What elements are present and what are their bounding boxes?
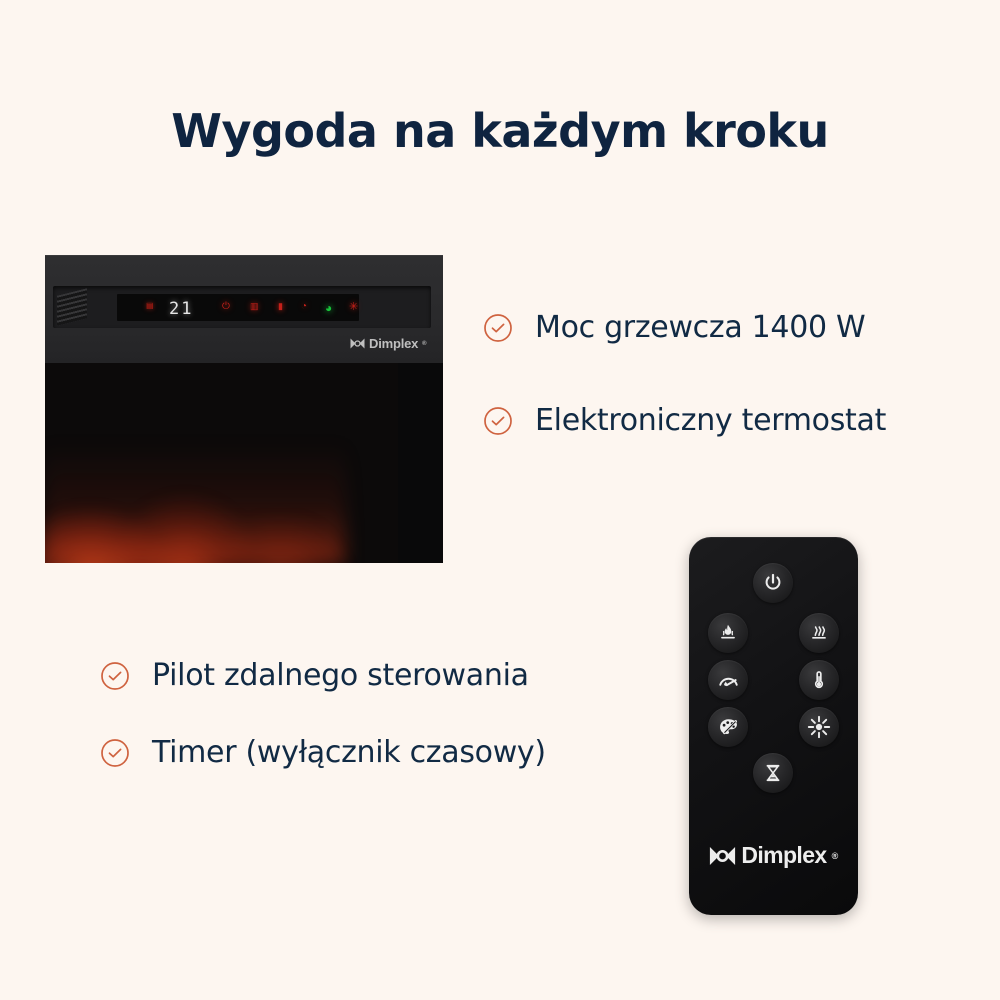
remote-control-image: Dimplex ® — [689, 537, 858, 915]
heater-bars-icon: ▤ — [146, 302, 154, 310]
feature-item: Elektroniczny termostat — [483, 403, 983, 438]
feature-item: Timer (wyłącznik czasowy) — [100, 735, 660, 770]
fireplace-display-panel[interactable]: ▤ 21 ⏻ ▥ ▮ ◔ ◕ ✳ — [117, 294, 359, 321]
power-icon — [762, 572, 784, 594]
sun-icon — [807, 715, 831, 739]
check-circle-icon — [100, 661, 130, 691]
feature-label: Pilot zdalnego sterowania — [152, 658, 529, 693]
color-button[interactable] — [708, 707, 748, 747]
flame-button[interactable] — [708, 613, 748, 653]
power-icon[interactable]: ⏻ — [222, 302, 230, 312]
flame-speed-button[interactable] — [708, 660, 748, 700]
remote-brand-logo: Dimplex ® — [689, 842, 858, 869]
heat-waves-icon — [808, 622, 830, 644]
fireplace-brand-logo: Dimplex ® — [350, 336, 426, 351]
thermometer-icon[interactable]: ▮ — [278, 302, 283, 311]
fireplace-hood: ▤ 21 ⏻ ▥ ▮ ◔ ◕ ✳ Dimplex — [45, 255, 443, 363]
feature-label: Moc grzewcza 1400 W — [535, 310, 865, 345]
vent-grille-icon — [57, 288, 87, 325]
display-temperature: 21 — [169, 299, 193, 319]
brightness-button[interactable] — [799, 707, 839, 747]
palette-icon — [717, 716, 740, 739]
feature-list-left: Pilot zdalnego sterowania Timer (wyłączn… — [100, 658, 660, 770]
timer-button[interactable] — [753, 753, 793, 793]
flame-speed-icon[interactable]: ◔ — [301, 302, 307, 312]
dimplex-bowtie-icon — [350, 338, 365, 349]
fireplace-firebox — [45, 360, 443, 563]
registered-mark: ® — [832, 851, 838, 861]
remote-brand-name: Dimplex — [741, 842, 826, 869]
check-circle-icon — [483, 406, 513, 436]
fireplace-brand-name: Dimplex — [369, 336, 418, 351]
heat-button[interactable] — [799, 613, 839, 653]
fireplace-product-image: ▤ 21 ⏻ ▥ ▮ ◔ ◕ ✳ Dimplex — [45, 255, 448, 565]
fireplace-side-panel — [398, 360, 443, 563]
check-circle-icon — [483, 313, 513, 343]
power-button[interactable] — [753, 563, 793, 603]
feature-item: Moc grzewcza 1400 W — [483, 310, 983, 345]
thermostat-button[interactable] — [799, 660, 839, 700]
dimplex-bowtie-icon — [709, 846, 736, 866]
fireplace-body: ▤ 21 ⏻ ▥ ▮ ◔ ◕ ✳ Dimplex — [45, 255, 443, 563]
heater-icon[interactable]: ▥ — [250, 302, 259, 311]
page-title: Wygoda na każdym kroku — [0, 105, 1000, 158]
thermometer-icon — [808, 669, 830, 691]
hourglass-icon — [762, 762, 784, 784]
feature-label: Elektroniczny termostat — [535, 403, 886, 438]
registered-mark: ® — [422, 341, 426, 347]
flame-speed-gauge-icon — [717, 669, 740, 692]
flame-icon — [717, 622, 739, 644]
check-circle-icon — [100, 738, 130, 768]
ember-glow — [45, 443, 345, 563]
feature-list-right: Moc grzewcza 1400 W Elektroniczny termos… — [483, 310, 983, 438]
feature-label: Timer (wyłącznik czasowy) — [152, 735, 546, 770]
brightness-icon[interactable]: ✳ — [349, 302, 358, 313]
flame-color-icon[interactable]: ◕ — [325, 302, 332, 314]
feature-item: Pilot zdalnego sterowania — [100, 658, 660, 693]
